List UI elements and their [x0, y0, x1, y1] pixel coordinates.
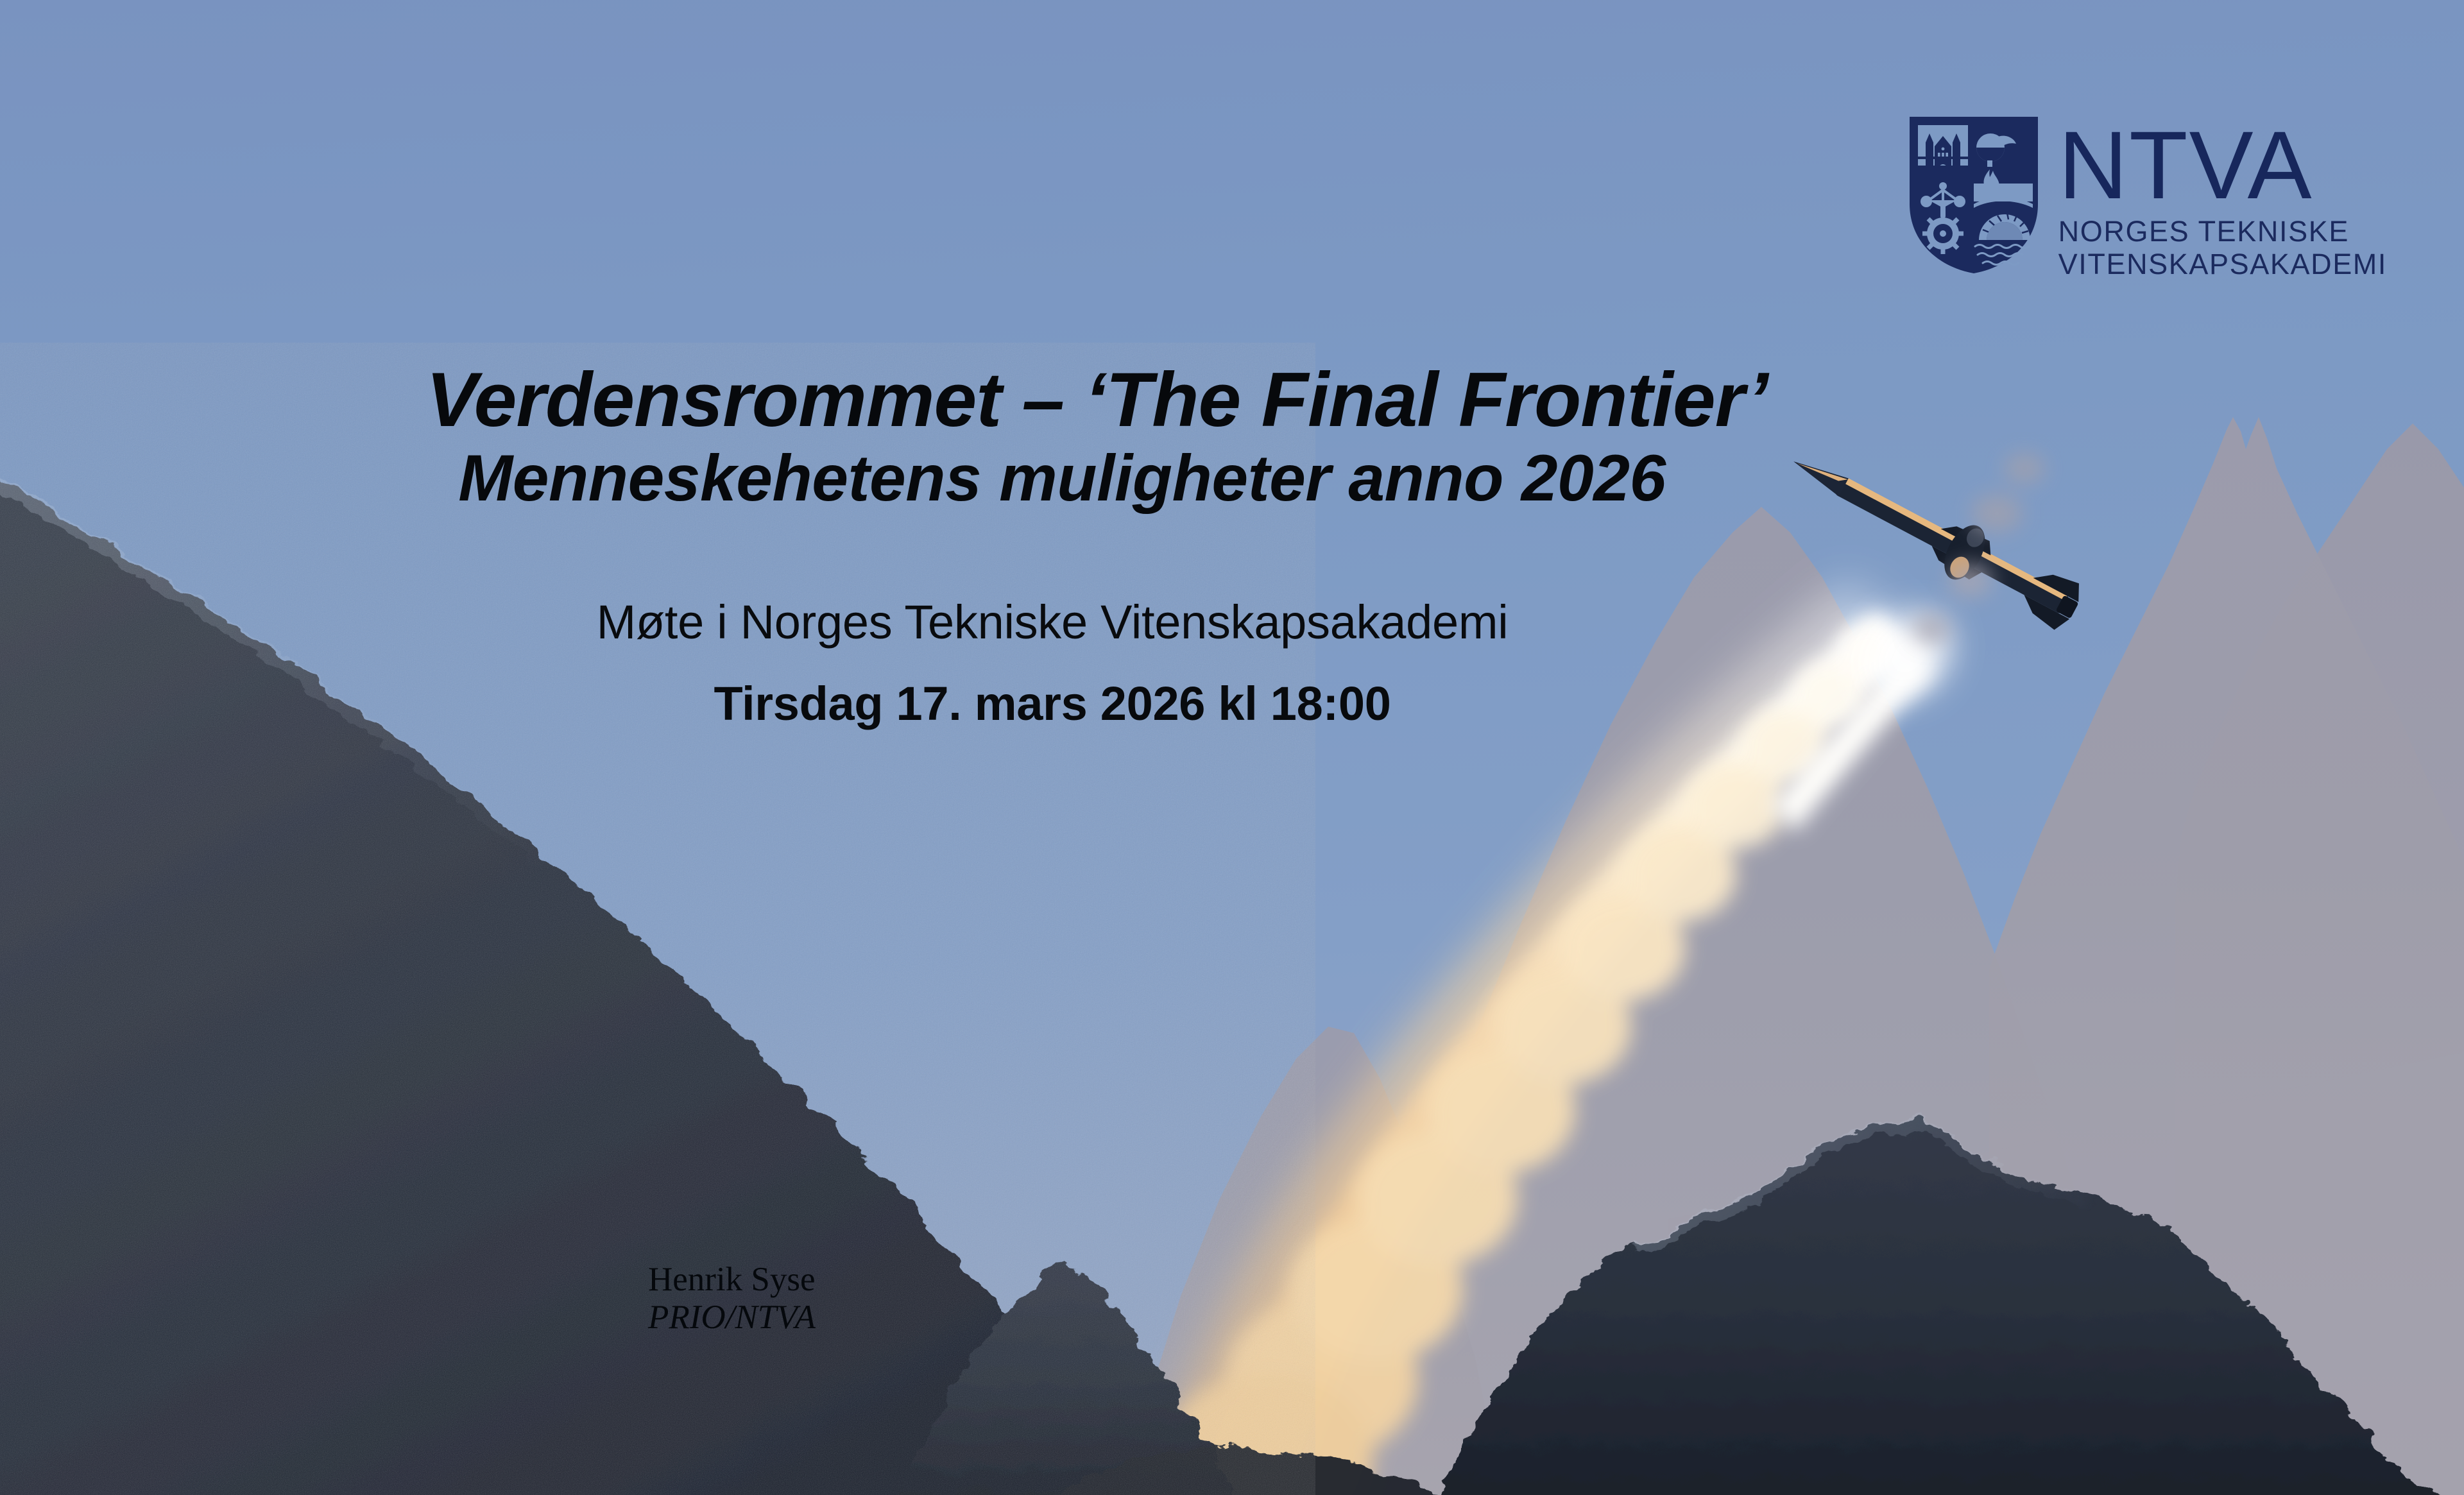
slide-text-block: Verdensrommet – ‘The Final Frontier’ Men…	[411, 359, 1887, 731]
church-tower-emblem	[1918, 125, 1968, 177]
meeting-line: Møte i Norges Tekniske Vitenskapsakademi	[411, 595, 1887, 649]
page-subtitle: Menneskehetens muligheter anno 2026	[411, 443, 1887, 513]
ntva-wordmark: NTVA	[2058, 121, 2387, 209]
ntva-subtitle: NORGES TEKNISKE VITENSKAPSAKADEMI	[2058, 216, 2387, 281]
ntva-subtitle-line-1: NORGES TEKNISKE	[2058, 216, 2387, 248]
page-title: Verdensrommet – ‘The Final Frontier’	[426, 359, 1887, 441]
speaker-affiliation: PRIO/NTVA	[648, 1299, 816, 1337]
ntva-shield-icon	[1907, 114, 2041, 276]
ntva-subtitle-line-2: VITENSKAPSAKADEMI	[2058, 248, 2387, 281]
speaker-credit: Henrik Syse PRIO/NTVA	[648, 1261, 816, 1337]
date-line: Tirsdag 17. mars 2026 kl 18:00	[411, 676, 1887, 731]
presentation-slide: Verdensrommet – ‘The Final Frontier’ Men…	[0, 0, 2464, 1495]
speaker-name: Henrik Syse	[648, 1261, 816, 1299]
ntva-wordmark-block: NTVA NORGES TEKNISKE VITENSKAPSAKADEMI	[2058, 114, 2387, 281]
ntva-logo: NTVA NORGES TEKNISKE VITENSKAPSAKADEMI	[1907, 114, 2387, 281]
